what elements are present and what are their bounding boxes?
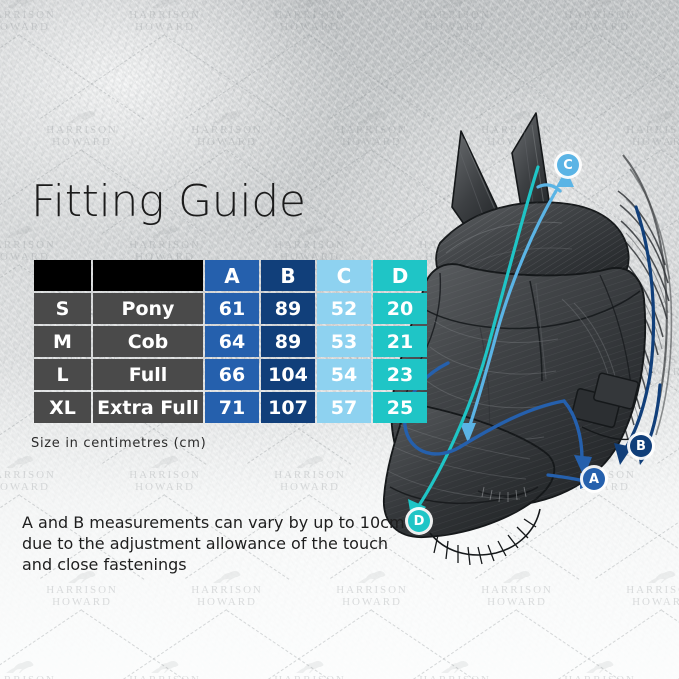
header-column-a: A — [205, 260, 259, 291]
row-value-a-xl: 71 — [205, 392, 259, 423]
row-value-d-s: 20 — [373, 293, 427, 324]
row-name-m: Cob — [93, 326, 203, 357]
row-value-a-l: 66 — [205, 359, 259, 390]
table-row: XLExtra Full711075725 — [34, 392, 427, 423]
header-column-b: B — [261, 260, 315, 291]
measure-marker-c: C — [557, 154, 579, 176]
row-value-d-xl: 25 — [373, 392, 427, 423]
size-chart-table: A B C D SPony61895220MCob64895321LFull66… — [32, 258, 429, 425]
row-value-a-s: 61 — [205, 293, 259, 324]
table-header-row: A B C D — [34, 260, 427, 291]
row-name-xl: Extra Full — [93, 392, 203, 423]
table-row: MCob64895321 — [34, 326, 427, 357]
row-value-c-m: 53 — [317, 326, 371, 357]
row-value-b-m: 89 — [261, 326, 315, 357]
table-row: LFull661045423 — [34, 359, 427, 390]
units-caption: Size in centimetres (cm) — [31, 436, 206, 451]
row-value-b-s: 89 — [261, 293, 315, 324]
row-size-m: M — [34, 326, 91, 357]
size-chart-header: A B C D — [34, 260, 427, 291]
row-value-b-xl: 107 — [261, 392, 315, 423]
row-value-c-l: 54 — [317, 359, 371, 390]
row-size-s: S — [34, 293, 91, 324]
header-blank-name — [93, 260, 203, 291]
size-chart-body: SPony61895220MCob64895321LFull661045423X… — [34, 293, 427, 423]
row-value-a-m: 64 — [205, 326, 259, 357]
header-column-c: C — [317, 260, 371, 291]
row-value-c-xl: 57 — [317, 392, 371, 423]
row-value-c-s: 52 — [317, 293, 371, 324]
row-value-d-l: 23 — [373, 359, 427, 390]
row-size-xl: XL — [34, 392, 91, 423]
header-column-d: D — [373, 260, 427, 291]
page-title: Fitting Guide — [31, 176, 306, 228]
measure-marker-b: B — [630, 435, 652, 457]
table-row: SPony61895220 — [34, 293, 427, 324]
row-size-l: L — [34, 359, 91, 390]
row-name-l: Full — [93, 359, 203, 390]
fitting-guide-page: HARRISONHOWARDHARRISONHOWARDHARRISONHOWA… — [0, 0, 679, 679]
header-blank-size — [34, 260, 91, 291]
measurement-note: A and B measurements can vary by up to 1… — [22, 512, 412, 575]
row-value-d-m: 21 — [373, 326, 427, 357]
row-name-s: Pony — [93, 293, 203, 324]
measure-marker-a: A — [583, 468, 605, 490]
row-value-b-l: 104 — [261, 359, 315, 390]
